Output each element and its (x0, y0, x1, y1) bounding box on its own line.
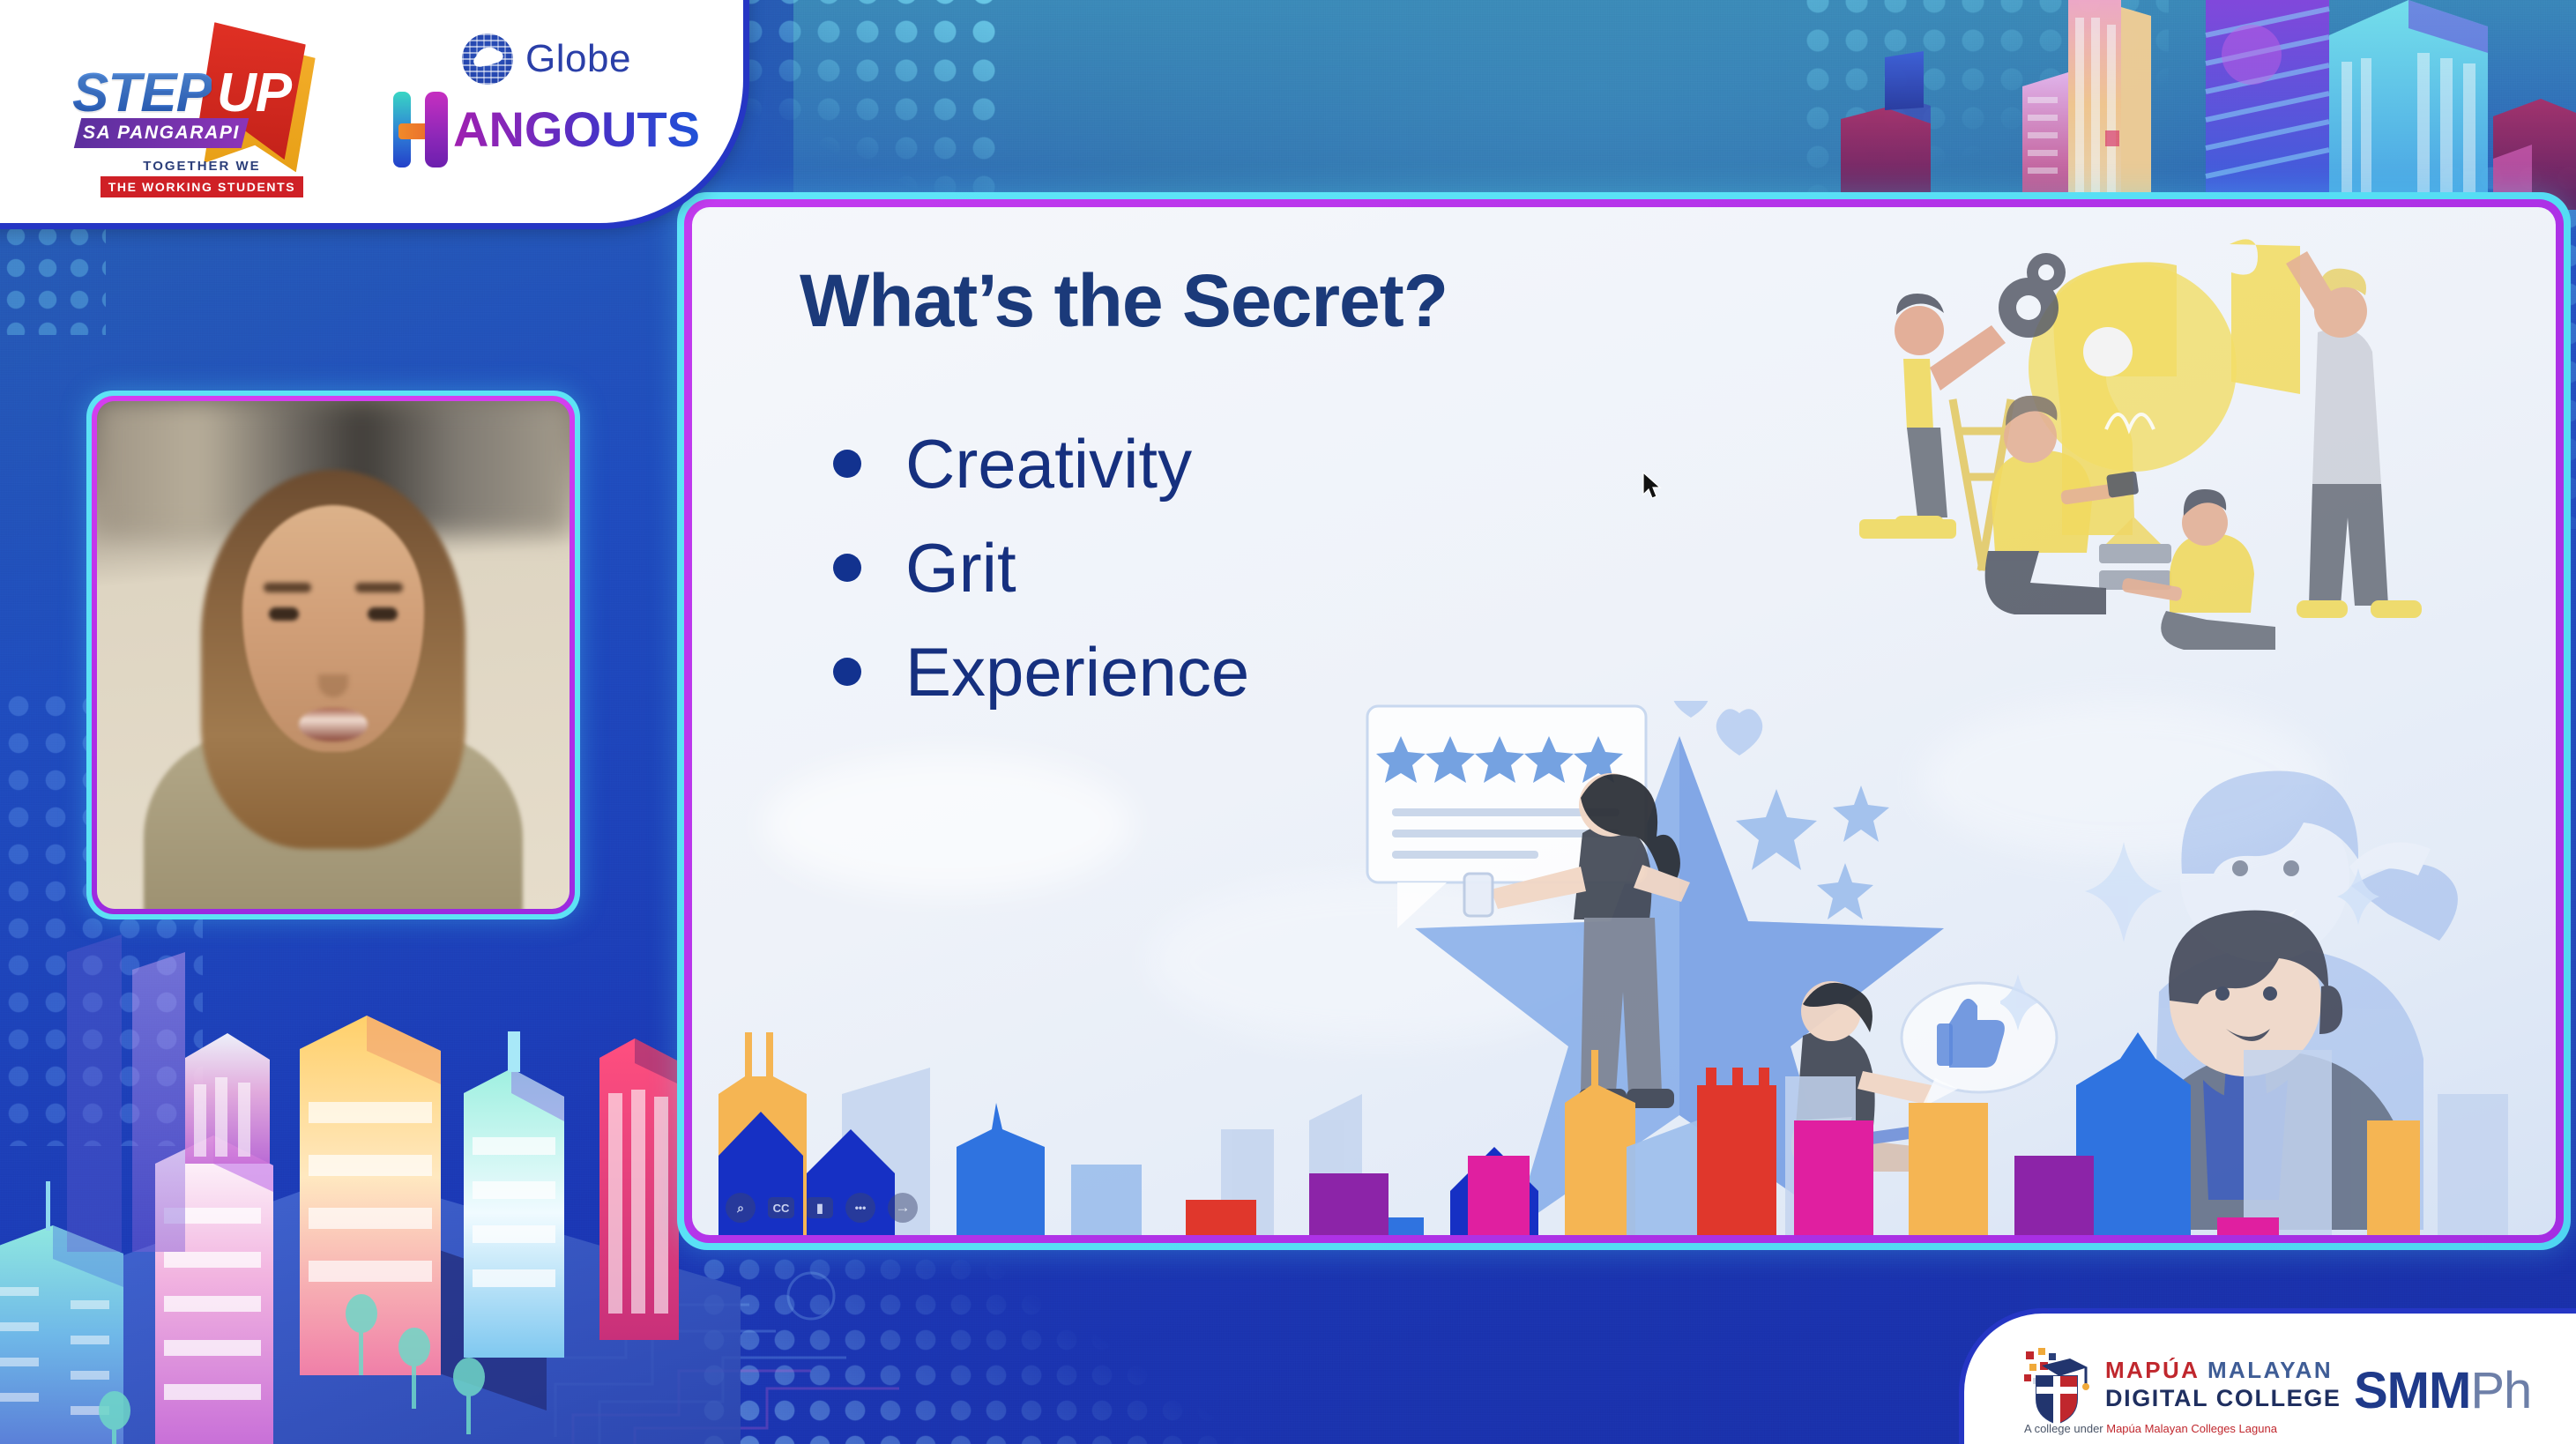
search-zoom-icon[interactable]: ⌕ (726, 1193, 756, 1223)
smmph-bold: SMM (2354, 1362, 2470, 1419)
video-tile-border (92, 396, 575, 914)
mmdc-name-line-1: MAPÚA MALAYAN (2105, 1357, 2333, 1384)
speaker-video-tile[interactable] (86, 391, 580, 919)
globe-icon (462, 33, 513, 85)
smmph-logo: SMMPh (2354, 1361, 2531, 1420)
mmdc-subtitle: A college under Mapúa Malayan Colleges L… (2024, 1422, 2277, 1435)
bullet-icon (833, 450, 861, 478)
stepup-tagline-secondary: THE WORKING STUDENTS (101, 176, 303, 197)
mmdc-name-line-2: DIGITAL COLLEGE (2105, 1385, 2341, 1412)
mmdc-shield-icon (2024, 1348, 2089, 1424)
more-options-icon[interactable]: ••• (845, 1193, 875, 1223)
list-item: Grit (833, 516, 1249, 620)
bullet-icon (833, 658, 861, 686)
stepup-word-up: UP (217, 62, 291, 124)
teamwork-lightbulb-illustration (1842, 227, 2459, 650)
mmdc-subtitle-prefix: A college under (2024, 1422, 2106, 1435)
globe-hangouts-logo: Globe ANGOUTS (388, 28, 705, 187)
presentation-frame-inner: What’s the Secret? Creativity Grit Exper… (684, 199, 2564, 1243)
isometric-skyline-top-right (1712, 0, 2576, 219)
cloud-decoration (763, 754, 1133, 895)
bullet-label: Creativity (905, 429, 1192, 498)
mmdc-logo: MAPÚA MALAYAN DIGITAL COLLEGE A college … (2024, 1337, 2315, 1443)
bullet-label: Experience (905, 637, 1249, 706)
slide-title: What’s the Secret? (800, 258, 1448, 344)
stepup-word-step: STEP (72, 62, 212, 124)
slide-bullet-list: Creativity Grit Experience (833, 412, 1249, 724)
bullet-label: Grit (905, 533, 1016, 602)
next-arrow-icon[interactable]: → (888, 1193, 918, 1223)
event-branding-card: STEP UP SA PANGARAPI TOGETHER WE EMPOWER… (0, 0, 749, 229)
screen: STEP UP SA PANGARAPI TOGETHER WE EMPOWER… (0, 0, 2576, 1444)
slide-playback-toolbar[interactable]: ⌕ CC ▮ ••• → (726, 1193, 918, 1223)
partner-branding-card: MAPÚA MALAYAN DIGITAL COLLEGE A college … (1959, 1308, 2576, 1444)
presentation-frame[interactable]: What’s the Secret? Creativity Grit Exper… (677, 192, 2571, 1250)
stepup-ribbon-label: SA PANGARAPI (83, 123, 240, 144)
globe-brand-row: Globe (388, 28, 705, 90)
colorful-skyline-illustration (692, 997, 2543, 1235)
smmph-light: Ph (2470, 1362, 2531, 1419)
list-item: Creativity (833, 412, 1249, 516)
closed-captions-icon[interactable]: CC (768, 1197, 794, 1218)
list-item: Experience (833, 620, 1249, 724)
mouse-pointer-icon (1642, 472, 1664, 502)
mmdc-name-malayan: MALAYAN (2207, 1357, 2333, 1383)
video-feed (97, 401, 570, 909)
cloud-decoration (1921, 701, 2327, 860)
stepup-logo: STEP UP SA PANGARAPI TOGETHER WE EMPOWER… (71, 19, 335, 196)
presentation-slide[interactable]: What’s the Secret? Creativity Grit Exper… (692, 207, 2556, 1235)
halftone-dots-pattern (0, 220, 106, 335)
mmdc-subtitle-parent: Mapúa Malayan Colleges Laguna (2106, 1422, 2277, 1435)
hangouts-row: ANGOUTS (388, 92, 705, 167)
hangouts-h-icon (393, 92, 448, 167)
globe-brand-label: Globe (525, 37, 631, 81)
hangouts-label: ANGOUTS (453, 100, 700, 158)
mmdc-name-mapua: MAPÚA (2105, 1357, 2199, 1383)
video-camera-icon[interactable]: ▮ (807, 1197, 833, 1218)
bullet-icon (833, 554, 861, 582)
